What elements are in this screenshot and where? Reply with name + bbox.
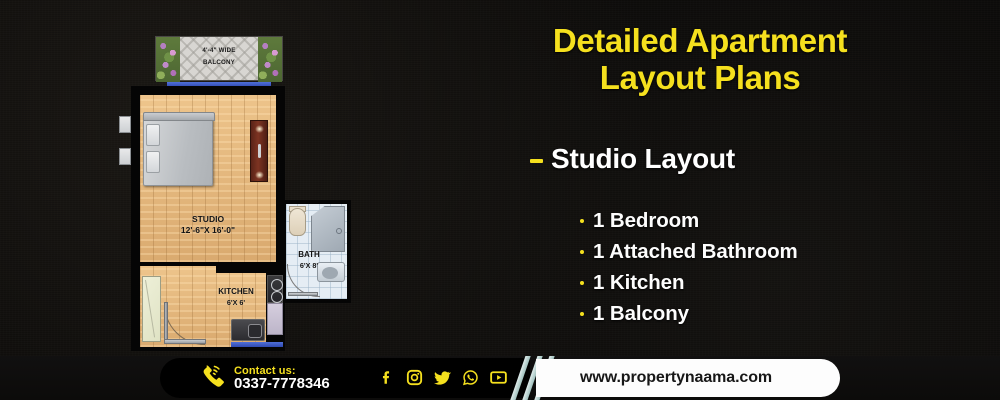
bed-furniture-icon <box>143 114 213 186</box>
burner-icon <box>271 291 283 303</box>
social-links <box>378 369 507 386</box>
feature-label: 1 Bedroom <box>593 209 699 233</box>
contact-block[interactable]: Contact us: 0337-7778346 <box>200 364 330 390</box>
list-item: 1 Kitchen <box>580 267 940 298</box>
nightstand-icon <box>119 148 131 165</box>
bullet-dot-icon <box>580 281 584 285</box>
headline-line-1: Detailed Apartment <box>460 22 940 59</box>
studio-dimensions-label: 12'-6"X 16'-0" <box>140 225 276 236</box>
kitchen-sink-icon <box>231 319 265 341</box>
page-title: Detailed Apartment Layout Plans <box>460 22 940 96</box>
list-item: 1 Attached Bathroom <box>580 236 940 267</box>
twitter-icon[interactable] <box>434 369 451 386</box>
list-item: 1 Bedroom <box>580 205 940 236</box>
entry-threshold <box>164 339 206 344</box>
nightstand-icon <box>119 116 131 133</box>
kitchen-room-label: KITCHEN <box>201 286 271 297</box>
feature-label: 1 Attached Bathroom <box>593 240 798 264</box>
burner-icon <box>271 279 283 291</box>
subheading-label: Studio Layout <box>551 143 735 175</box>
contact-text: Contact us: 0337-7778346 <box>234 365 330 390</box>
door-light-glow <box>255 125 264 133</box>
banner: 4'-4" WIDE BALCONY <box>0 0 1000 400</box>
planter-left-icon <box>156 37 180 82</box>
planter-right-icon <box>258 37 282 82</box>
footer-bar: Contact us: 0337-7778346 <box>0 356 1000 400</box>
bed-headboard <box>143 112 215 121</box>
shower-drain-icon <box>336 228 342 234</box>
subheading: Studio Layout <box>530 143 735 175</box>
toilet-icon <box>289 208 306 236</box>
feature-list: 1 Bedroom 1 Attached Bathroom 1 Kitchen … <box>580 205 940 329</box>
instagram-icon[interactable] <box>406 369 423 386</box>
dash-icon <box>530 159 543 163</box>
phone-ringing-icon <box>200 364 226 390</box>
entry-door-leaf <box>164 302 168 342</box>
bath-dimensions-label: 6'X 8' <box>287 260 331 271</box>
balcony-area: 4'-4" WIDE BALCONY <box>155 36 283 81</box>
bullet-dot-icon <box>580 219 584 223</box>
bath-room-label: BATH <box>287 249 331 260</box>
facebook-icon[interactable] <box>378 369 395 386</box>
wooden-door-icon <box>250 120 268 182</box>
feature-label: 1 Kitchen <box>593 271 684 295</box>
kitchen-window-railing <box>231 342 283 347</box>
bullet-dot-icon <box>580 250 584 254</box>
studio-floor-plan: 4'-4" WIDE BALCONY <box>131 36 351 351</box>
feature-label: 1 Balcony <box>593 302 689 326</box>
sink-basin <box>248 324 262 338</box>
glass-panel-icon <box>142 276 161 342</box>
kitchen-dimensions-label: 6'X 6' <box>201 297 271 308</box>
headline-line-2: Layout Plans <box>460 59 940 96</box>
bullet-dot-icon <box>580 312 584 316</box>
pillow-icon <box>146 124 160 146</box>
list-item: 1 Balcony <box>580 298 940 329</box>
pillow-icon <box>146 151 160 173</box>
door-handle-icon <box>258 144 261 158</box>
bath-door-leaf <box>288 292 318 296</box>
contact-number[interactable]: 0337-7778346 <box>234 378 330 390</box>
whatsapp-icon[interactable] <box>462 369 479 386</box>
website-url[interactable]: www.propertynaama.com <box>580 369 772 387</box>
website-pill[interactable]: www.propertynaama.com <box>536 359 840 397</box>
door-light-glow <box>255 171 264 179</box>
studio-room-label: STUDIO <box>140 214 276 225</box>
